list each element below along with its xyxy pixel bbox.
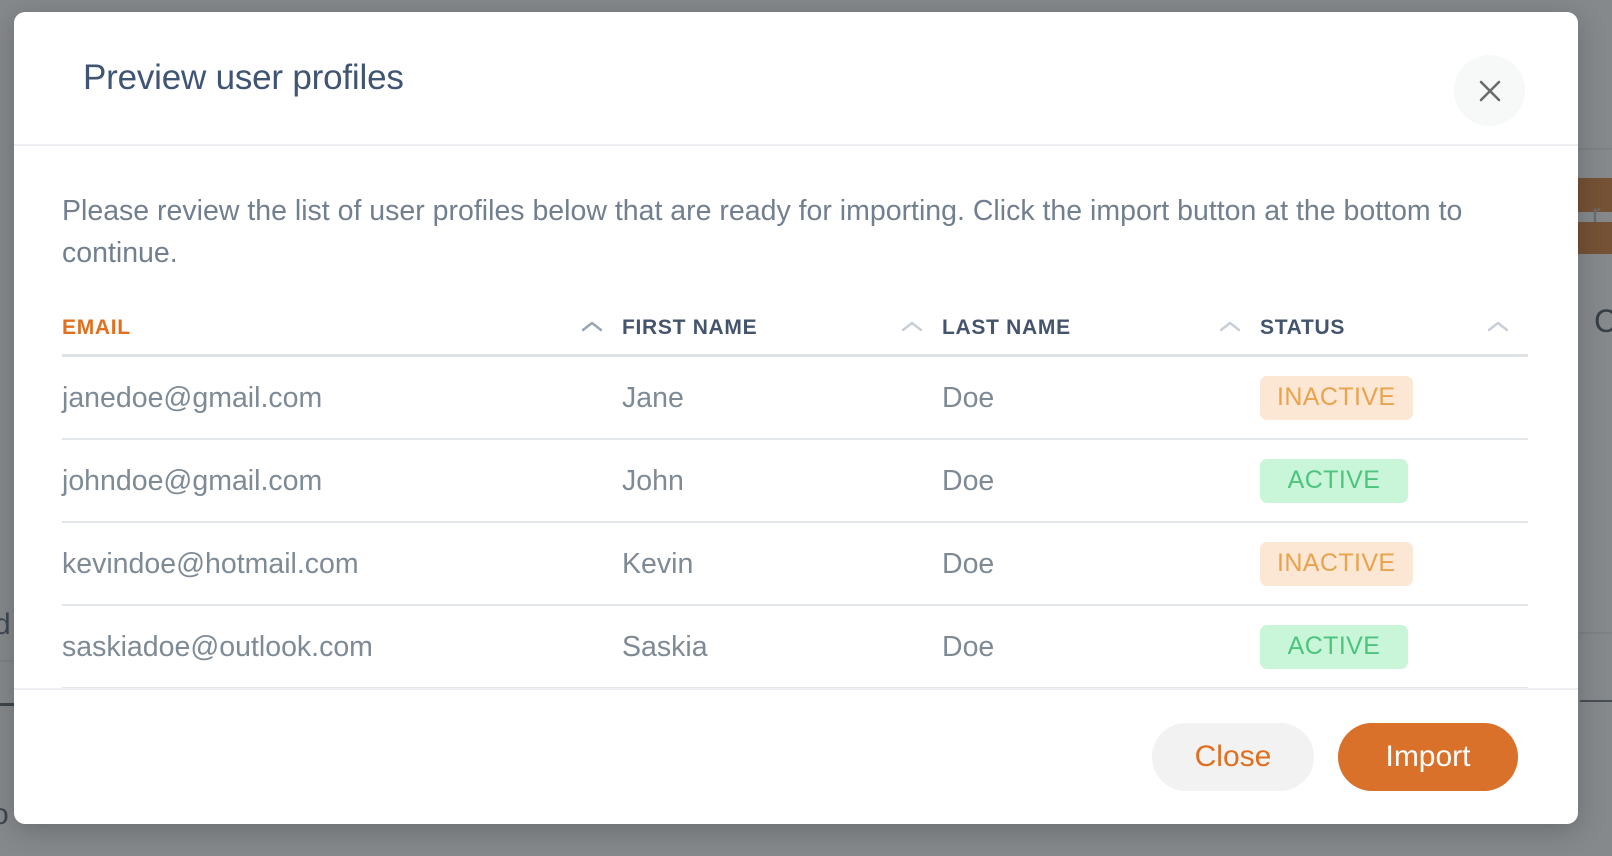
column-header-email[interactable]: EMAIL [62,316,622,356]
user-profiles-table: EMAIL FIRST NAME [62,316,1528,688]
cell-first-name: Saskia [622,605,942,688]
cell-status: INACTIVE [1260,522,1528,605]
close-icon-button[interactable] [1454,55,1525,126]
column-header-first-name[interactable]: FIRST NAME [622,316,942,356]
sort-ascending-icon[interactable] [1218,316,1242,340]
cell-first-name: Jane [622,356,942,440]
cell-status: ACTIVE [1260,605,1528,688]
table-row[interactable]: janedoe@gmail.com Jane Doe INACTIVE [62,356,1528,440]
import-button[interactable]: Import [1338,723,1518,791]
cell-first-name: John [622,439,942,522]
table-row[interactable]: johndoe@gmail.com John Doe ACTIVE [62,439,1528,522]
page-title: Preview user profiles [83,58,404,98]
cell-email: kevindoe@hotmail.com [62,522,622,605]
cell-email: saskiadoe@outlook.com [62,605,622,688]
sort-ascending-icon[interactable] [580,316,604,340]
table-header: EMAIL FIRST NAME [62,316,1528,356]
cell-status: INACTIVE [1260,356,1528,440]
sort-ascending-icon[interactable] [1486,316,1510,340]
cell-last-name: Doe [942,605,1260,688]
modal-description: Please review the list of user profiles … [62,190,1502,274]
cell-email: johndoe@gmail.com [62,439,622,522]
status-badge: INACTIVE [1260,376,1413,420]
table-body: janedoe@gmail.com Jane Doe INACTIVE john… [62,356,1528,689]
column-header-last-name[interactable]: LAST NAME [942,316,1260,356]
column-header-status-label: STATUS [1260,316,1345,340]
cell-email: janedoe@gmail.com [62,356,622,440]
modal-footer: Close Import [14,688,1578,824]
cell-first-name: Kevin [622,522,942,605]
modal-header: Preview user profiles [14,12,1578,146]
preview-user-profiles-modal: Preview user profiles Please review the … [14,12,1578,824]
status-badge: ACTIVE [1260,625,1408,669]
close-button[interactable]: Close [1152,723,1314,791]
column-header-first-name-label: FIRST NAME [622,316,757,340]
table-row[interactable]: kevindoe@hotmail.com Kevin Doe INACTIVE [62,522,1528,605]
cell-last-name: Doe [942,356,1260,440]
status-badge: ACTIVE [1260,459,1408,503]
column-header-status[interactable]: STATUS [1260,316,1528,356]
column-header-email-label: EMAIL [62,316,131,340]
status-badge: INACTIVE [1260,542,1413,586]
table-header-row: EMAIL FIRST NAME [62,316,1528,356]
cell-last-name: Doe [942,439,1260,522]
cell-last-name: Doe [942,522,1260,605]
sort-ascending-icon[interactable] [900,316,924,340]
modal-body: Please review the list of user profiles … [14,146,1578,688]
table-row[interactable]: saskiadoe@outlook.com Saskia Doe ACTIVE [62,605,1528,688]
column-header-last-name-label: LAST NAME [942,316,1071,340]
cell-status: ACTIVE [1260,439,1528,522]
close-icon [1477,78,1503,104]
